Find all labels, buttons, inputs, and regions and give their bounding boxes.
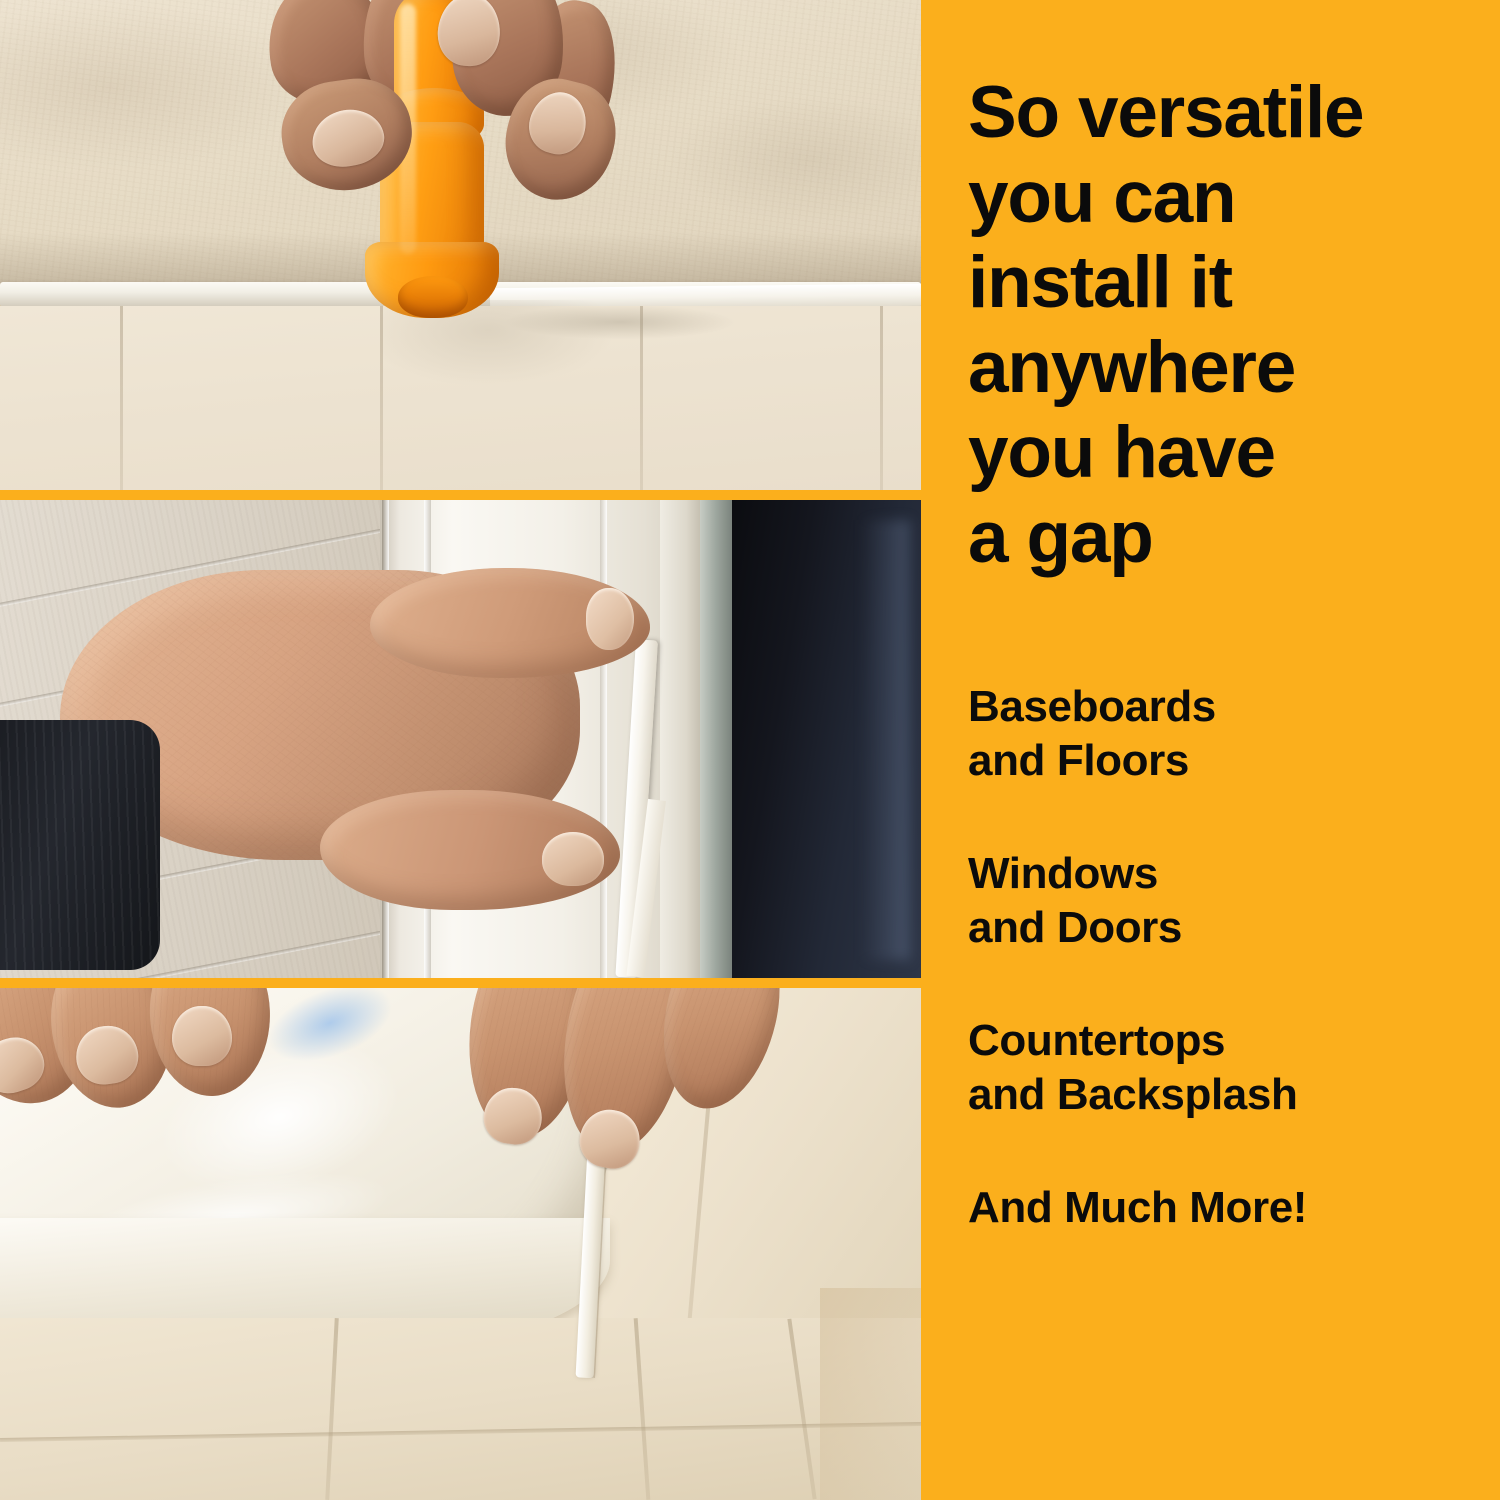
- floor-tile-surface: [0, 1318, 921, 1500]
- tile-edge-shading: [820, 1288, 921, 1500]
- list-item-line-2: and Doors: [968, 901, 1488, 955]
- list-item-countertops: Countertops and Backsplash: [968, 1014, 1488, 1122]
- photo-column: [0, 0, 921, 1500]
- hand-applying-strip: [0, 540, 690, 960]
- list-item-windows: Windows and Doors: [968, 847, 1488, 955]
- headline-line-1: So versatile: [968, 70, 1488, 155]
- glass-reflection: [860, 520, 910, 960]
- list-item-baseboards: Baseboards and Floors: [968, 680, 1488, 788]
- product-feature-image: So versatile you can install it anywhere…: [0, 0, 1500, 1500]
- headline-line-2: you can: [968, 155, 1488, 240]
- headline-line-5: you have: [968, 410, 1488, 495]
- list-item-line-2: and Backsplash: [968, 1068, 1488, 1122]
- photo-caulk-tool-on-tile: [0, 0, 921, 490]
- text-panel: So versatile you can install it anywhere…: [921, 0, 1500, 1500]
- use-case-list: Baseboards and Floors Windows and Doors …: [968, 680, 1488, 1294]
- black-sleeve: [0, 720, 160, 970]
- list-item-line-1: Countertops: [968, 1014, 1488, 1068]
- photo-caulk-strip-on-door-frame: [0, 500, 921, 978]
- list-item-line-1: And Much More!: [968, 1181, 1488, 1235]
- list-item-line-1: Baseboards: [968, 680, 1488, 734]
- headline-line-4: anywhere: [968, 325, 1488, 410]
- headline: So versatile you can install it anywhere…: [968, 70, 1488, 580]
- list-item-line-2: and Floors: [968, 734, 1488, 788]
- list-item-line-1: Windows: [968, 847, 1488, 901]
- left-hand-pressing: [0, 988, 380, 1194]
- right-hand-pressing: [470, 988, 800, 1228]
- headline-line-6: a gap: [968, 495, 1488, 580]
- photo-divider: [0, 490, 921, 500]
- list-item-and-much-more: And Much More!: [968, 1181, 1488, 1235]
- photo-caulk-strip-on-countertop: [0, 988, 921, 1500]
- photo-divider: [0, 978, 921, 988]
- headline-line-3: install it: [968, 240, 1488, 325]
